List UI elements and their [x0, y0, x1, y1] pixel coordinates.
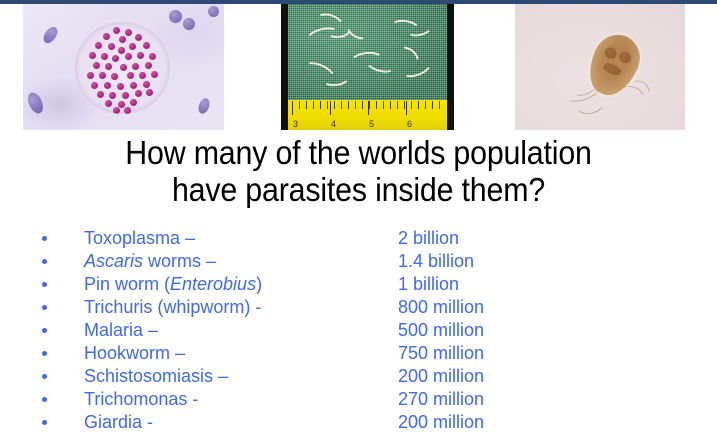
parasite-name: Hookworm –	[84, 342, 185, 365]
parasite-name: Trichomonas -	[84, 388, 198, 411]
parasite-count: 750 million	[398, 342, 484, 365]
ruler-label: 5	[369, 119, 374, 130]
giardia-trophozoite-image	[515, 4, 685, 130]
parasite-name: Schistosomiasis –	[84, 365, 228, 388]
bullet-icon	[42, 305, 47, 310]
title-line-1: How many of the worlds population	[29, 134, 689, 171]
list-item: Ascaris worms – 1.4 billion	[0, 250, 717, 273]
host-cell-nucleus	[208, 6, 219, 17]
parasite-name: Ascaris worms –	[84, 250, 216, 273]
giardia-nucleus	[617, 50, 632, 65]
parasite-name: Trichuris (whipworm) -	[84, 296, 261, 319]
presentation-slide: 3 4 5 6 How many of the worlds populatio…	[0, 0, 717, 446]
parasite-count: 200 million	[398, 365, 484, 388]
bullet-icon	[42, 420, 47, 425]
parasite-count: 500 million	[398, 319, 484, 342]
ruler-label: 4	[331, 119, 336, 130]
parasite-count: 200 million	[398, 411, 484, 434]
pinworm	[365, 53, 398, 76]
parasite-name: Giardia -	[84, 411, 153, 434]
list-item: Malaria – 500 million	[0, 319, 717, 342]
ruler-label: 6	[407, 119, 412, 130]
toxoplasma-tissue-cyst-image	[23, 4, 224, 130]
parasite-prevalence-list: Toxoplasma – 2 billion Ascaris worms – 1…	[0, 227, 717, 434]
title-line-2: have parasites inside them?	[29, 171, 689, 208]
list-item: Toxoplasma – 2 billion	[0, 227, 717, 250]
list-item: Pin worm (Enterobius) 1 billion	[0, 273, 717, 296]
list-item: Giardia - 200 million	[0, 411, 717, 434]
host-cell-nucleus	[169, 10, 182, 23]
pinworms-with-ruler-image: 3 4 5 6	[281, 4, 454, 130]
giardia-nucleus	[603, 46, 618, 61]
yellow-ruler: 3 4 5 6	[288, 100, 447, 130]
green-cloth-background	[288, 4, 447, 100]
parasite-count: 1 billion	[398, 273, 459, 296]
parasite-count: 270 million	[398, 388, 484, 411]
parasite-count: 1.4 billion	[398, 250, 474, 273]
pinworm	[304, 24, 341, 50]
parasite-name: Toxoplasma –	[84, 227, 195, 250]
ruler-label: 3	[293, 119, 298, 130]
parasite-name: Malaria –	[84, 319, 158, 342]
list-item: Schistosomiasis – 200 million	[0, 365, 717, 388]
bullet-icon	[42, 259, 47, 264]
toxoplasma-cyst	[75, 22, 170, 114]
bullet-icon	[42, 282, 47, 287]
host-cell-nucleus	[183, 18, 195, 30]
parasite-name: Pin worm (Enterobius)	[84, 273, 262, 296]
list-item: Trichomonas - 270 million	[0, 388, 717, 411]
giardia-median-body	[602, 61, 622, 77]
page-title: How many of the worlds population have p…	[29, 134, 689, 208]
parasite-count: 800 million	[398, 296, 484, 319]
bullet-icon	[42, 397, 47, 402]
list-item: Trichuris (whipworm) - 800 million	[0, 296, 717, 319]
parasite-count: 2 billion	[398, 227, 459, 250]
bullet-icon	[42, 351, 47, 356]
bullet-icon	[42, 374, 47, 379]
bullet-icon	[42, 328, 47, 333]
list-item: Hookworm – 750 million	[0, 342, 717, 365]
bullet-icon	[42, 236, 47, 241]
